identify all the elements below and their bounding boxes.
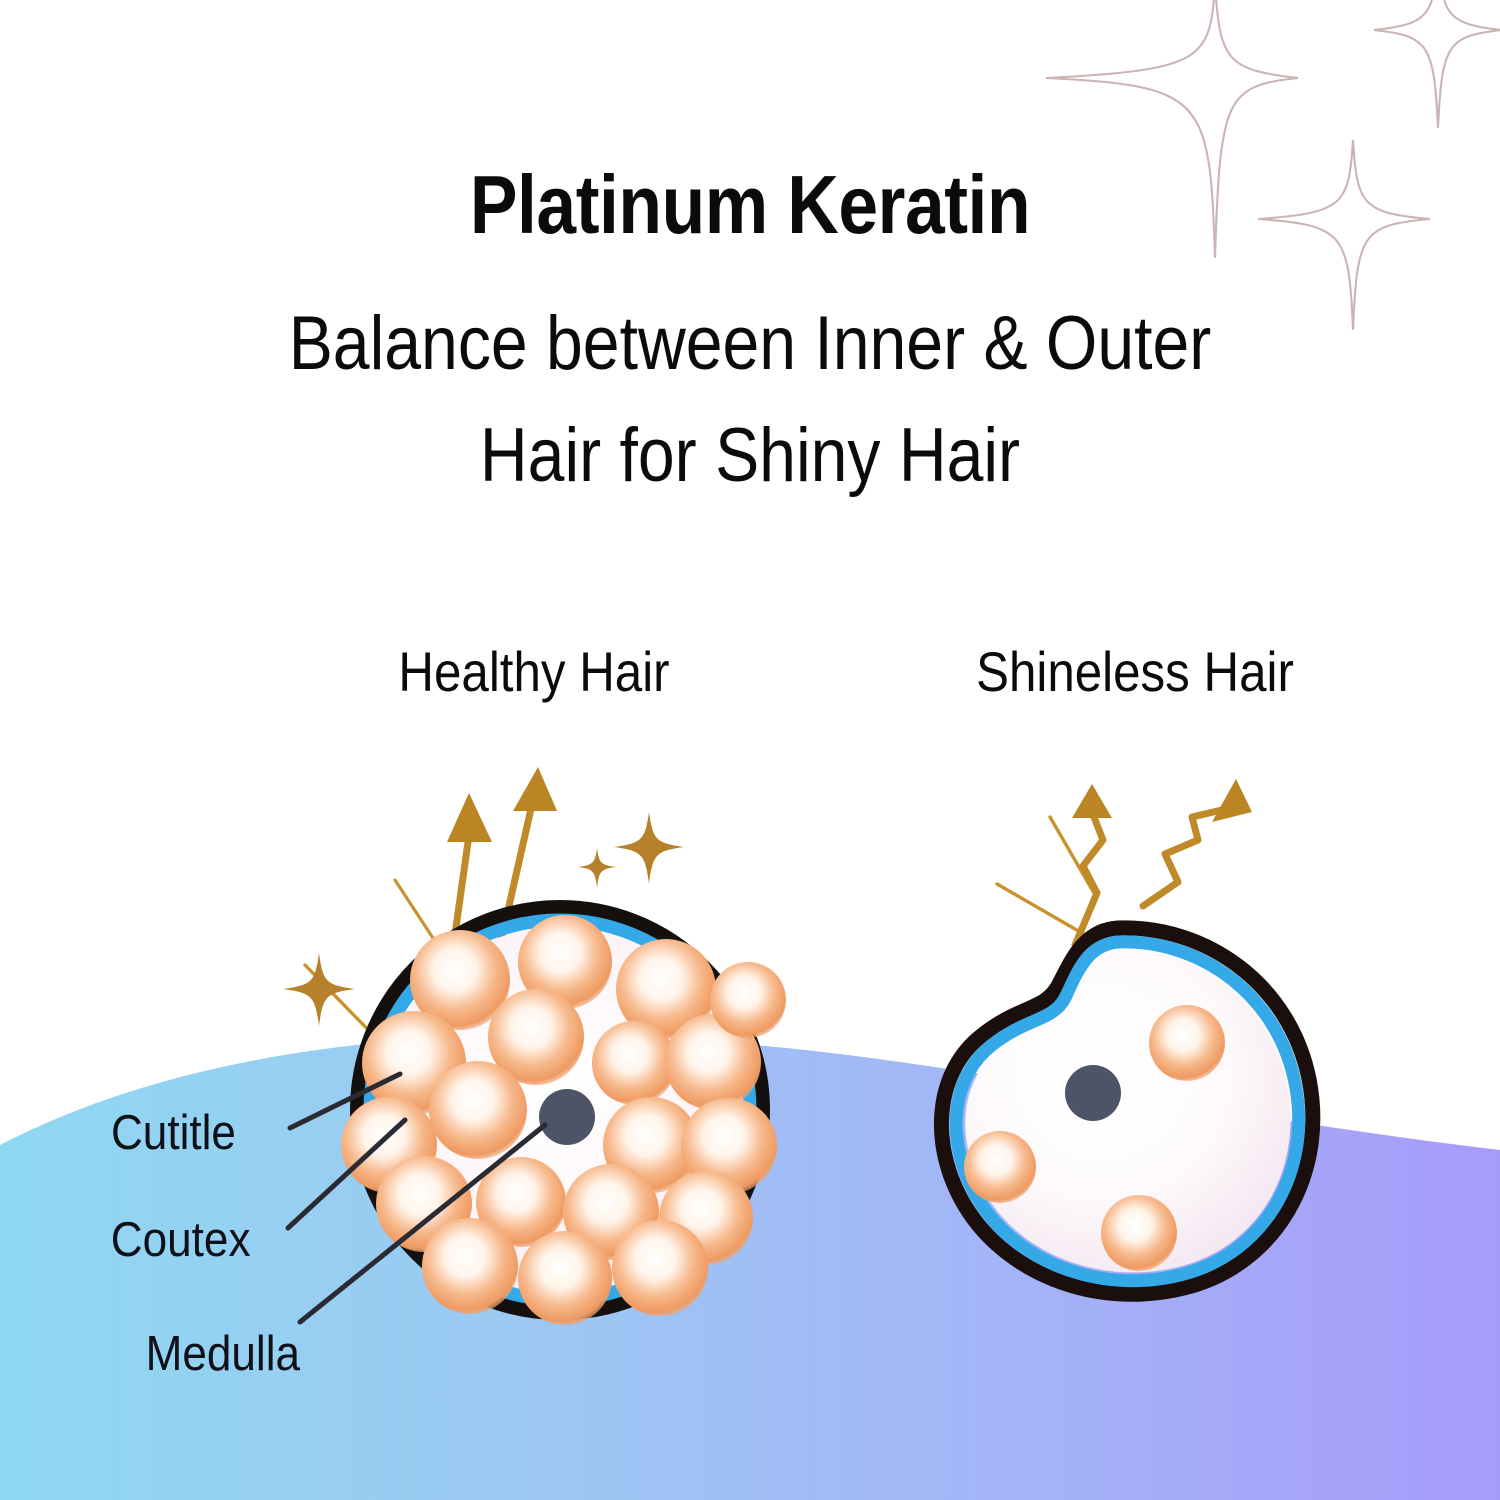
ray-arrowhead-icon [1212, 779, 1252, 822]
infographic-canvas: Platinum Keratin Balance between Inner &… [0, 0, 1500, 1500]
ray-arrowhead-icon [447, 793, 492, 842]
incoming-light-ray-icon [395, 880, 480, 1010]
cortex-cell [518, 915, 612, 1009]
callout-label-coutex: Coutex [111, 1216, 251, 1265]
ray-arrowhead-icon [1072, 784, 1112, 818]
page-title: Platinum Keratin [105, 163, 1395, 246]
column-caption-shineless-hair: Shineless Hair [955, 641, 1316, 703]
reflected-light-ray-icon [487, 800, 533, 1003]
gold-sparkle-icon [578, 848, 616, 888]
callout-label-cutitle: Cutitle [111, 1109, 236, 1158]
scattered-light-ray-icon [1075, 812, 1103, 945]
ray-arrowhead-icon [513, 767, 557, 811]
corner-sparkle-icon [1374, 0, 1500, 128]
shineless-hair-light-rays [997, 779, 1252, 945]
incoming-light-ray-icon [1050, 817, 1094, 893]
healthy-hair-sparkles [283, 812, 684, 1026]
gold-sparkle-icon [614, 812, 684, 884]
incoming-light-ray-icon [997, 884, 1094, 940]
column-caption-healthy-hair: Healthy Hair [376, 641, 693, 703]
scattered-light-ray-icon [1143, 809, 1226, 906]
callout-label-medulla: Medulla [146, 1330, 300, 1379]
page-subtitle: Balance between Inner & Outer Hair for S… [98, 288, 1403, 513]
